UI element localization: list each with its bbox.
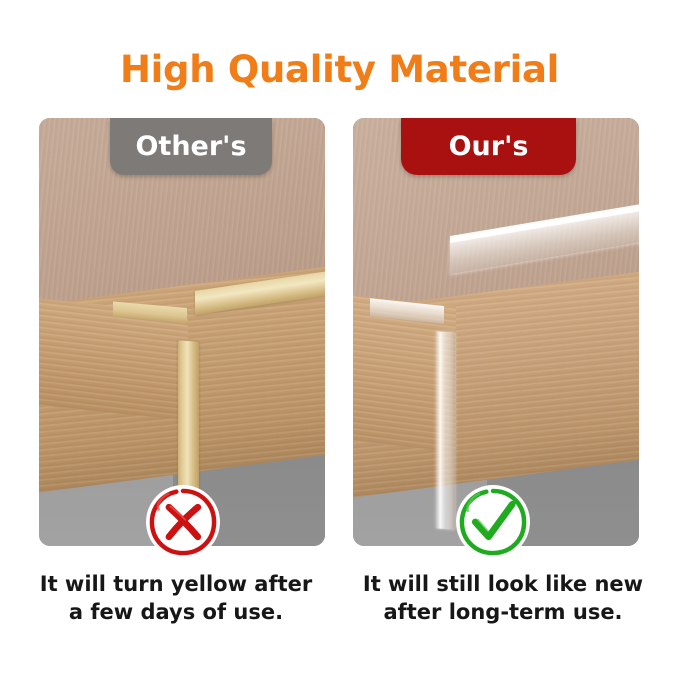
caption-other: It will turn yellow after a few days of …: [16, 570, 336, 626]
page-title: High Quality Material: [0, 48, 679, 91]
comparison-panel-ours: Our's: [353, 118, 639, 546]
yellowed-guard-corner: [178, 340, 199, 496]
cross-circle-icon: [146, 485, 220, 559]
badge-ours: Our's: [401, 118, 576, 175]
product-photo-other: [39, 118, 325, 546]
clear-guard-corner: [436, 331, 455, 529]
caption-other-line1: It will turn yellow after: [40, 572, 313, 596]
comparison-panel-other: Other's: [39, 118, 325, 546]
product-photo-ours: [353, 118, 639, 546]
caption-other-line2: a few days of use.: [16, 598, 336, 626]
check-circle-icon: [456, 485, 530, 559]
product-comparison-infographic: High Quality Material Other's: [0, 0, 679, 679]
badge-other: Other's: [110, 118, 272, 175]
caption-ours-line1: It will still look like new: [363, 572, 643, 596]
caption-ours: It will still look like new after long-t…: [343, 570, 663, 626]
caption-ours-line2: after long-term use.: [343, 598, 663, 626]
